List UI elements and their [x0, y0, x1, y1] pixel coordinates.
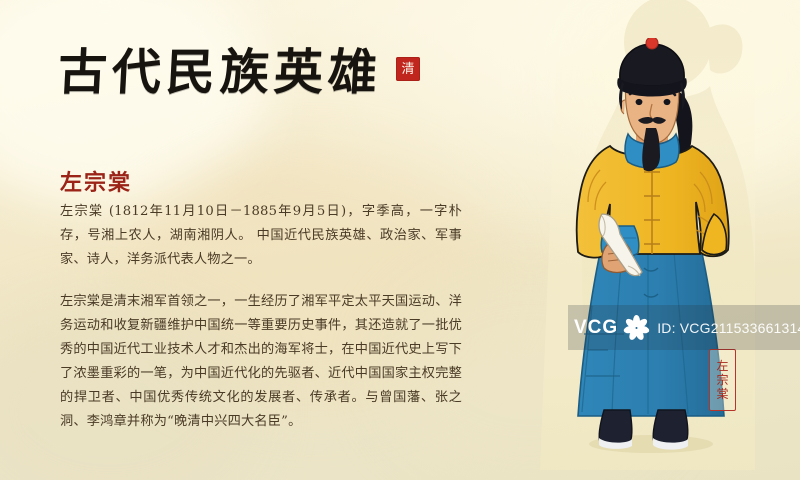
name-seal-vertical: 左 宗 棠: [709, 349, 736, 411]
page-title: 古代民族英雄: [57, 48, 384, 97]
qing-hat: [620, 44, 684, 86]
biography-paragraph-1: 左宗棠 (1812年11月10日－1885年9月5日)，字季高，一字朴存，号湘上…: [60, 200, 462, 272]
vcg-logo: VCG: [574, 313, 651, 343]
seal-char-2: 宗: [716, 373, 728, 387]
vcg-watermark: VCG ID: VCG211533661314: [568, 305, 800, 350]
seal-char-3: 棠: [716, 387, 728, 401]
biography-text-block: 左宗棠 (1812年11月10日－1885年9月5日)，字季高，一字朴存，号湘上…: [60, 200, 462, 434]
vcg-flower-icon: [621, 313, 651, 343]
title-row: 古代民族英雄 清: [58, 48, 420, 97]
vcg-asset-id: ID: VCG211533661314: [657, 320, 800, 336]
poster-canvas: 古代民族英雄 清 左宗棠 左宗棠 (1812年11月10日－1885年9月5日)…: [0, 0, 800, 480]
biography-paragraph-2: 左宗棠是清末湘军首领之一，一生经历了湘军平定太平天国运动、洋务运动和收复新疆维护…: [60, 290, 462, 434]
person-name-heading: 左宗棠: [60, 165, 132, 197]
vcg-brand-text: VCG: [574, 317, 618, 339]
seal-char-1: 左: [716, 359, 728, 373]
dynasty-seal-stamp: 清: [396, 57, 420, 81]
watercolor-wash-top-left: [0, 0, 270, 210]
hat-red-knob: [646, 38, 658, 49]
